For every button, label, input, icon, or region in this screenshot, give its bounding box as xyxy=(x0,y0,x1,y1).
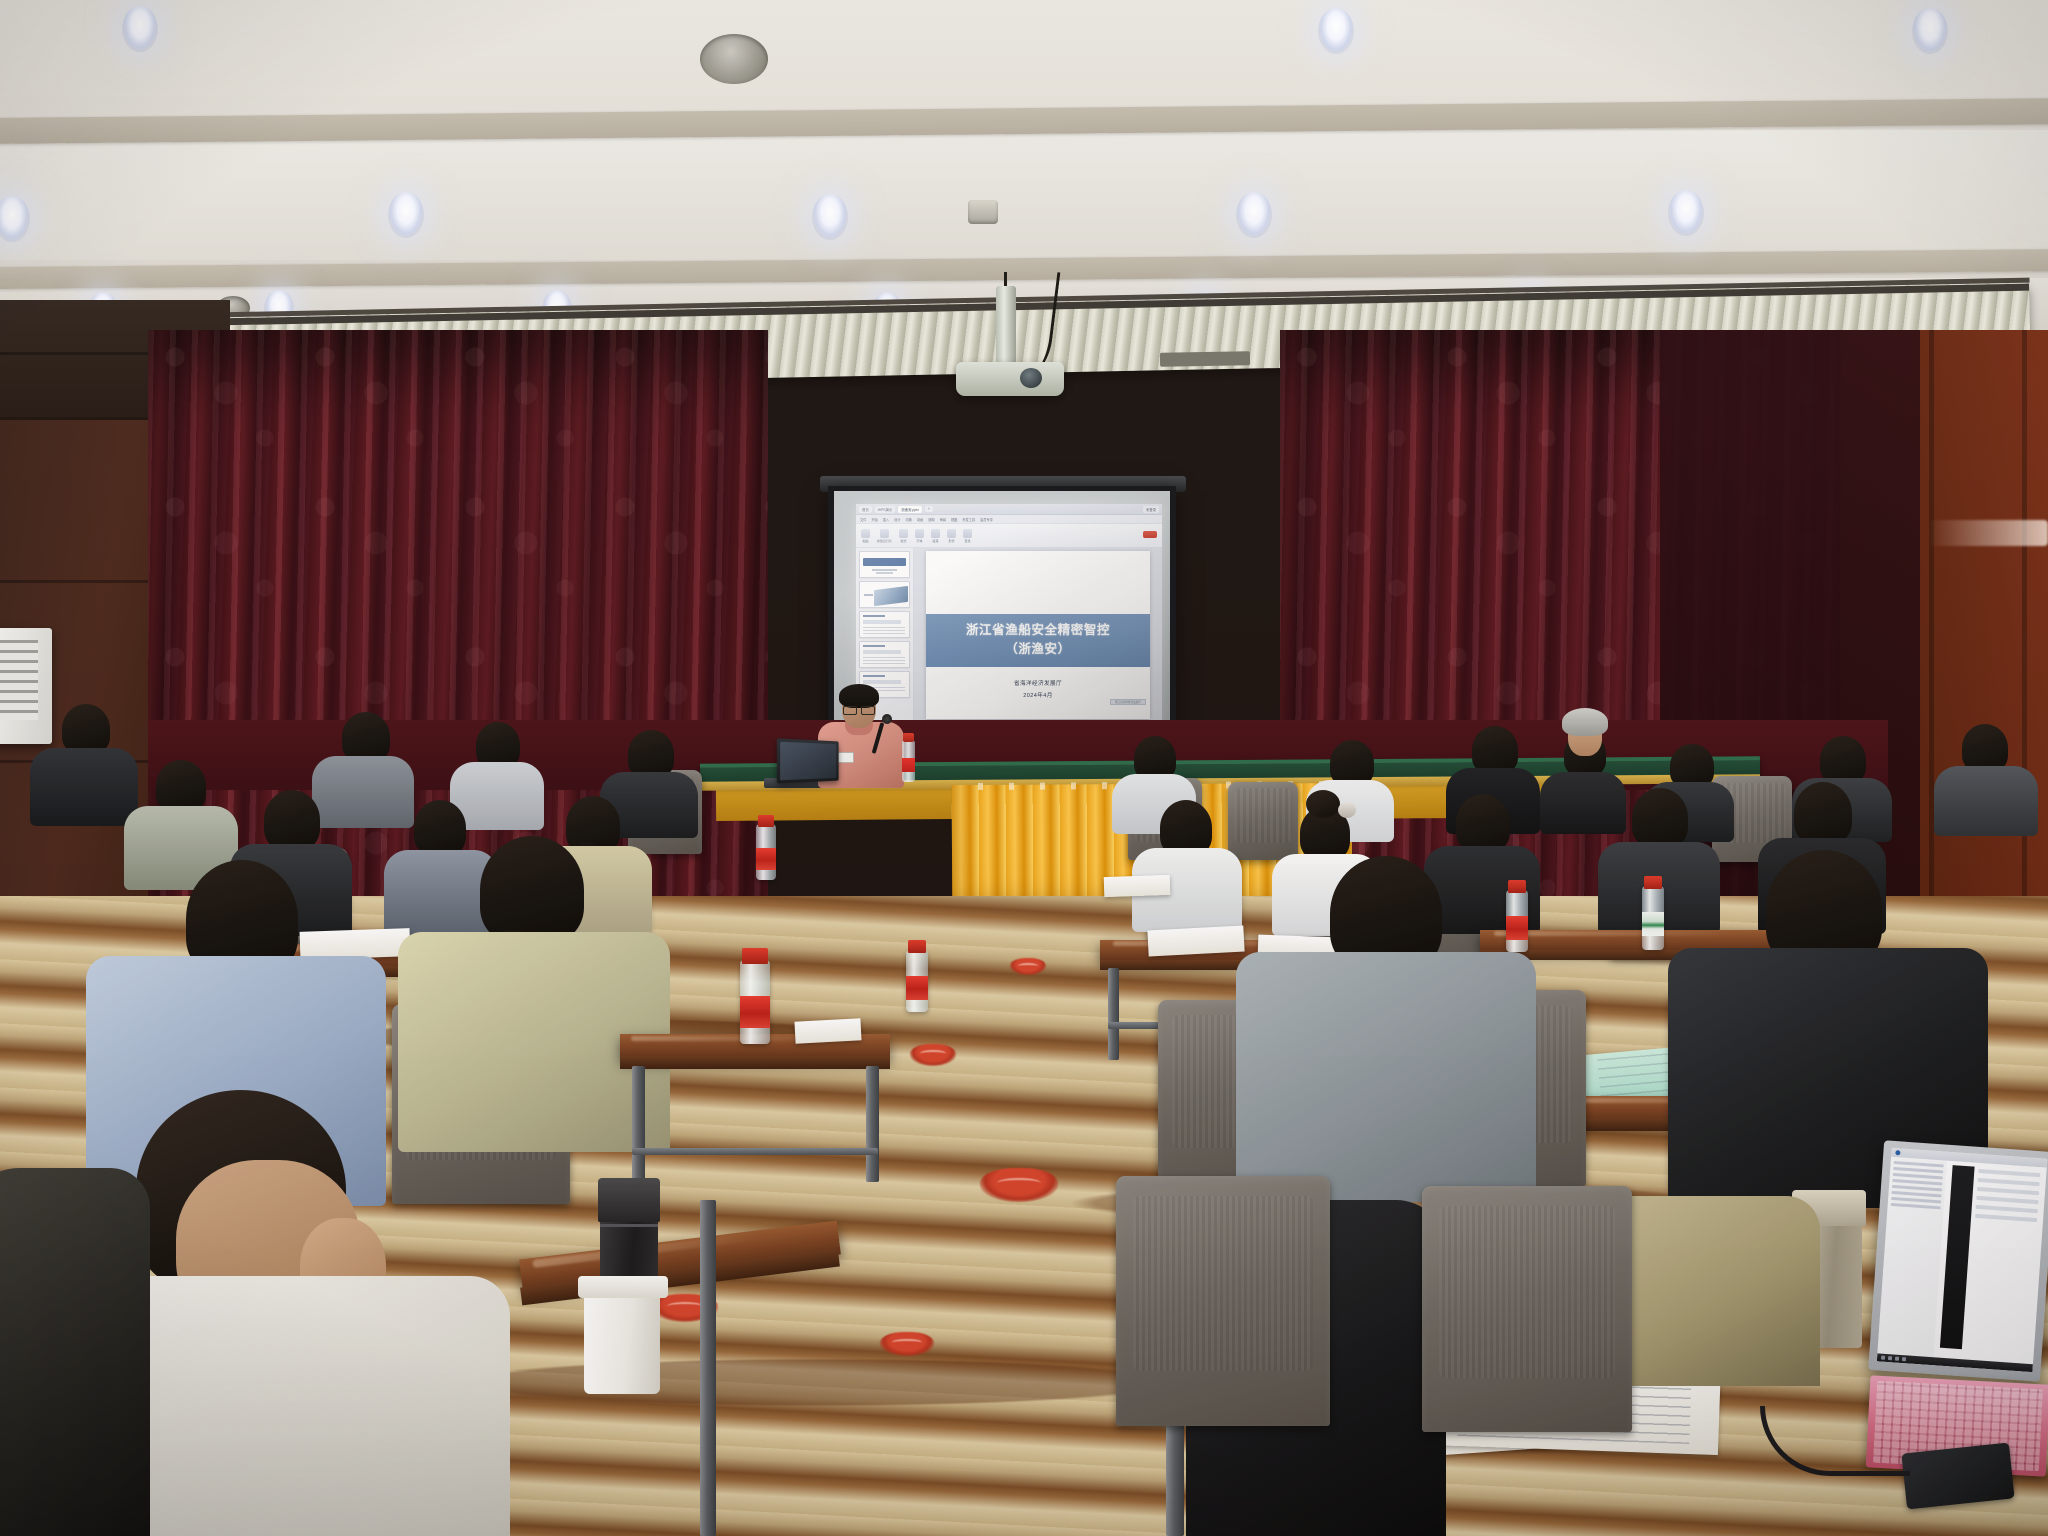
downlight-icon xyxy=(1318,8,1354,54)
carpet-floral-motif xyxy=(980,1168,1058,1202)
ribbon-tab[interactable]: 会员专享 xyxy=(980,517,993,522)
ribbon-group-label: 版式 xyxy=(901,539,907,543)
app-tab[interactable]: WPS演示 xyxy=(875,506,896,513)
carpet-floral-motif xyxy=(910,1044,956,1066)
soffit-plate xyxy=(1160,351,1250,367)
downlight-icon xyxy=(1912,8,1948,54)
paper-sheet xyxy=(794,1018,861,1043)
presentation-app-window[interactable]: 首页 WPS演示 浙渔安.pptx + 未登录 文件 开始 插入 设计 切换 动… xyxy=(856,504,1162,724)
thermos-lid xyxy=(598,1178,660,1222)
ribbon-group-label: 粘贴 xyxy=(862,539,868,543)
glasses-icon xyxy=(843,706,875,713)
slide-thumbnail[interactable] xyxy=(859,581,910,608)
bottle-label xyxy=(740,996,770,1028)
start-icon[interactable] xyxy=(1881,1356,1885,1360)
chair xyxy=(1228,782,1298,860)
ribbon-group-label: 形状 xyxy=(949,539,955,543)
desk-rail xyxy=(632,1148,878,1155)
ribbon-tab[interactable]: 放映 xyxy=(928,517,934,522)
desk-leg xyxy=(866,1066,879,1182)
projector-mount-pole xyxy=(996,286,1016,368)
downlight-icon xyxy=(122,6,158,52)
wall-panel-seam xyxy=(0,580,150,583)
taskbar-icon[interactable] xyxy=(1902,1357,1906,1361)
app-tab-bar[interactable]: 首页 WPS演示 浙渔安.pptx + 未登录 xyxy=(856,504,1162,515)
ceiling-plane-mid xyxy=(0,130,2048,260)
ribbon-group-label: 新建幻灯片 xyxy=(877,539,892,543)
downlight-icon xyxy=(1668,190,1704,236)
search-icon xyxy=(963,529,972,538)
air-vent-icon xyxy=(700,34,768,84)
app-body: 浙江省渔船安全精密智控 （浙渔安） 省海洋经济发展厅 2024年4月 浙江省海洋… xyxy=(856,548,1162,724)
thermos-ring xyxy=(600,1224,658,1227)
taskbar-icon[interactable] xyxy=(1895,1357,1899,1361)
downlight-icon xyxy=(1236,192,1272,238)
ribbon-tab-strip[interactable]: 文件 开始 插入 设计 切换 动画 放映 审阅 视图 开发工具 会员专享 xyxy=(856,515,1162,524)
ribbon-tab[interactable]: 设计 xyxy=(894,517,900,522)
taskbar-icon[interactable] xyxy=(1888,1356,1892,1360)
ribbon-group[interactable]: 版式 xyxy=(899,529,908,543)
air-conditioner-louvres xyxy=(0,640,38,720)
chair xyxy=(1116,1176,1330,1426)
bottle-label xyxy=(1506,916,1528,940)
bottle-cap xyxy=(908,940,926,953)
app-tab-active[interactable]: 浙渔安.pptx xyxy=(898,506,922,513)
slide-watermark: 浙江省海洋经济发展厅 xyxy=(1110,699,1146,705)
paste-icon xyxy=(861,529,870,538)
desk-leg xyxy=(700,1200,716,1536)
ribbon-group[interactable]: 形状 xyxy=(947,529,956,543)
smartphone[interactable] xyxy=(1901,1443,2014,1510)
present-button[interactable] xyxy=(1143,531,1157,538)
bottle-cap xyxy=(1644,876,1662,889)
bottle-label xyxy=(756,848,776,870)
ceiling-projector-icon xyxy=(956,362,1064,396)
ribbon-group[interactable]: 段落 xyxy=(931,529,940,543)
media-panel xyxy=(1940,1165,1975,1349)
ribbon-tab[interactable]: 文件 xyxy=(860,517,866,522)
downlight-icon xyxy=(388,192,424,238)
ribbon-tab[interactable]: 审阅 xyxy=(940,517,946,522)
carpet-floral-motif xyxy=(1010,958,1046,975)
app-icon xyxy=(1895,1150,1900,1155)
presenter-hair xyxy=(839,684,879,708)
slide-thumbnail[interactable] xyxy=(859,611,910,638)
slide-thumbnail[interactable] xyxy=(859,551,910,578)
ribbon-tab[interactable]: 插入 xyxy=(883,517,889,522)
bottle-label xyxy=(1642,912,1664,936)
microphone-icon xyxy=(882,714,892,724)
projection-screen: 首页 WPS演示 浙渔安.pptx + 未登录 文件 开始 插入 设计 切换 动… xyxy=(828,486,1176,730)
ribbon-group-label: 查找 xyxy=(965,539,971,543)
file-explorer-content[interactable] xyxy=(1933,1161,2047,1372)
ribbon-tab[interactable]: 开发工具 xyxy=(962,517,975,522)
slide-organisation: 省海洋经济发展厅 xyxy=(926,679,1150,687)
new-slide-icon xyxy=(880,529,889,538)
shapes-icon xyxy=(947,529,956,538)
font-icon xyxy=(915,529,924,538)
current-slide[interactable]: 浙江省渔船安全精密智控 （浙渔安） 省海洋经济发展厅 2024年4月 浙江省海洋… xyxy=(926,551,1150,719)
conference-room-photo: 首页 WPS演示 浙渔安.pptx + 未登录 文件 开始 插入 设计 切换 动… xyxy=(0,0,2048,1536)
smoke-detector-icon xyxy=(968,200,998,224)
downlight-icon xyxy=(812,194,848,240)
bottle-cap xyxy=(758,815,774,827)
ribbon-group[interactable]: 新建幻灯片 xyxy=(877,529,892,543)
bottle-cap xyxy=(1508,880,1526,893)
desk-edge xyxy=(620,1056,890,1069)
projector-lens-icon xyxy=(1020,368,1042,388)
ribbon-tab[interactable]: 开始 xyxy=(871,517,877,522)
slide-title-line-2: （浙渔安） xyxy=(1005,638,1071,657)
app-tab[interactable]: 首页 xyxy=(859,506,872,513)
ribbon-group[interactable]: 粘贴 xyxy=(861,529,870,543)
ribbon-group-label: 字体 xyxy=(917,539,923,543)
ribbon-group-label: 段落 xyxy=(933,539,939,543)
slide-editing-stage[interactable]: 浙江省渔船安全精密智控 （浙渔安） 省海洋经济发展厅 2024年4月 浙江省海洋… xyxy=(914,548,1162,724)
desk-leg xyxy=(632,1066,645,1182)
paragraph-icon xyxy=(931,529,940,538)
laptop-screen[interactable] xyxy=(1868,1140,2048,1381)
slide-date: 2024年4月 xyxy=(926,691,1150,699)
slide-thumbnail[interactable] xyxy=(859,641,910,668)
account-label[interactable]: 未登录 xyxy=(1143,506,1159,513)
paper-sheet xyxy=(1147,926,1244,957)
slide-title-band: 浙江省渔船安全精密智控 （浙渔安） xyxy=(926,614,1150,667)
ribbon-tab[interactable]: 视图 xyxy=(951,517,957,522)
paper-sheet xyxy=(1104,875,1171,897)
laptop-display[interactable] xyxy=(1877,1148,2048,1372)
carpet-floral-motif xyxy=(880,1332,934,1356)
chair xyxy=(1422,1186,1632,1432)
cup-rim xyxy=(578,1276,668,1298)
bottle-cap xyxy=(742,948,768,964)
desk-leg xyxy=(1108,968,1119,1060)
ribbon-toolbar[interactable]: 粘贴 新建幻灯片 版式 字体 xyxy=(856,524,1162,548)
wall-highlight xyxy=(1928,520,2048,546)
ribbon-tab[interactable]: 动画 xyxy=(917,517,923,522)
foreground-attendee-edge xyxy=(0,1168,150,1536)
bottle-cap xyxy=(903,733,914,742)
ribbon-tab[interactable]: 切换 xyxy=(906,517,912,522)
layout-icon xyxy=(899,529,908,538)
slide-title-line-1: 浙江省渔船安全精密智控 xyxy=(966,624,1110,637)
presenter-laptop xyxy=(777,738,839,783)
bottle-label xyxy=(902,758,915,772)
ribbon-group[interactable]: 查找 xyxy=(963,529,972,543)
paper-cup xyxy=(584,1282,660,1394)
app-tab-new[interactable]: + xyxy=(925,506,933,512)
bottle-label xyxy=(906,976,928,1000)
ribbon-group[interactable]: 字体 xyxy=(915,529,924,543)
